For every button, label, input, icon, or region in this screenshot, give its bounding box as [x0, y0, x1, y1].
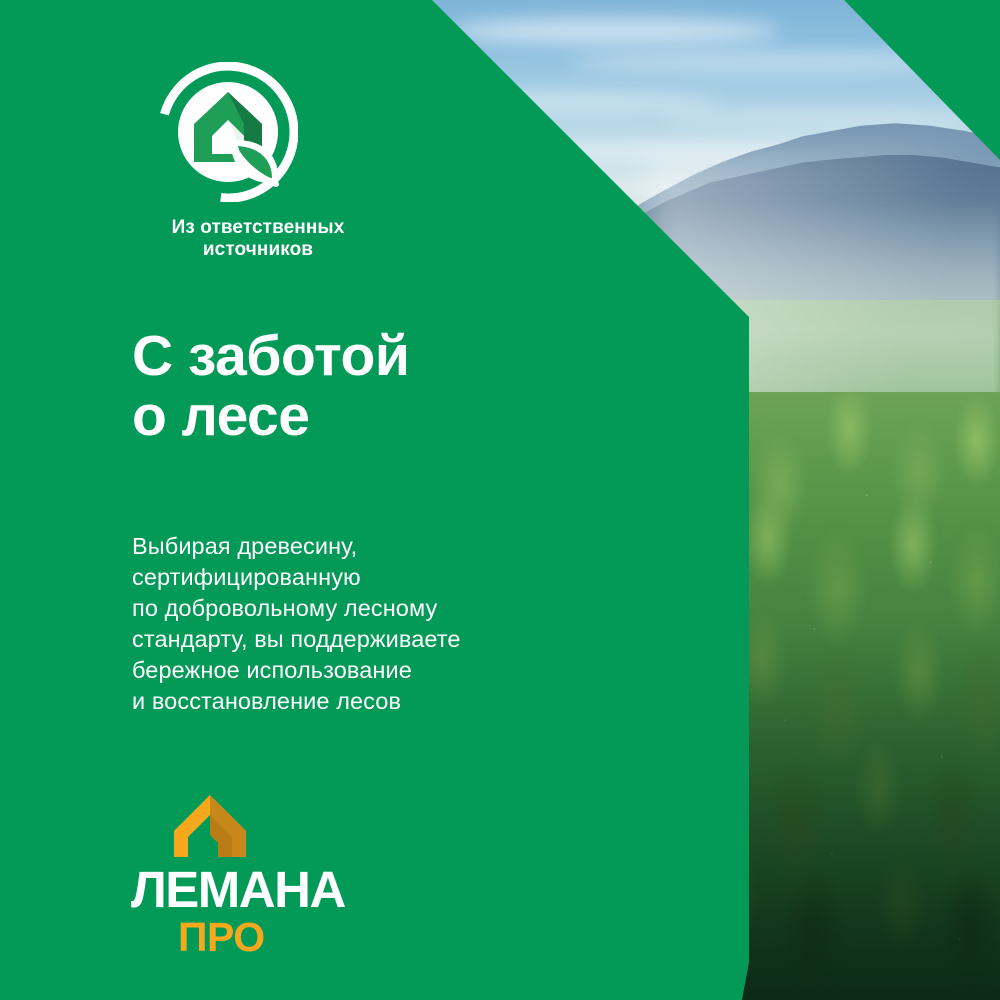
headline-line1: С заботой [132, 326, 409, 386]
page-title: С заботой о лесе [132, 326, 409, 447]
body-line3: по добровольному лесному [132, 593, 461, 624]
badge-caption-line1: Из ответственных [128, 217, 388, 239]
badge-caption: Из ответственных источников [128, 217, 388, 262]
promo-poster: Из ответственных источников С заботой о … [0, 0, 1000, 1000]
badge-caption-line2: источников [128, 239, 388, 261]
body-line6: и восстановление лесов [132, 686, 461, 717]
body-line2: сертифицированную [132, 562, 461, 593]
responsible-sources-badge: Из ответственных источников [128, 62, 428, 262]
lemana-house-mark [172, 793, 248, 859]
poster-content: Из ответственных источников С заботой о … [0, 0, 1000, 1000]
body-line1: Выбирая древесину, [132, 531, 461, 562]
responsible-sources-house-leaf-mark [158, 62, 298, 202]
brand-logo: ЛЕМАНА ПРО [131, 793, 371, 958]
headline-line2: о лесе [132, 386, 409, 446]
brand-name: ЛЕМАНА [131, 865, 371, 915]
brand-sub: ПРО [178, 917, 371, 958]
body-line5: бережное использование [132, 655, 461, 686]
body-line4: стандарту, вы поддерживаете [132, 624, 461, 655]
body-copy: Выбирая древесину, сертифицированную по … [132, 531, 461, 717]
